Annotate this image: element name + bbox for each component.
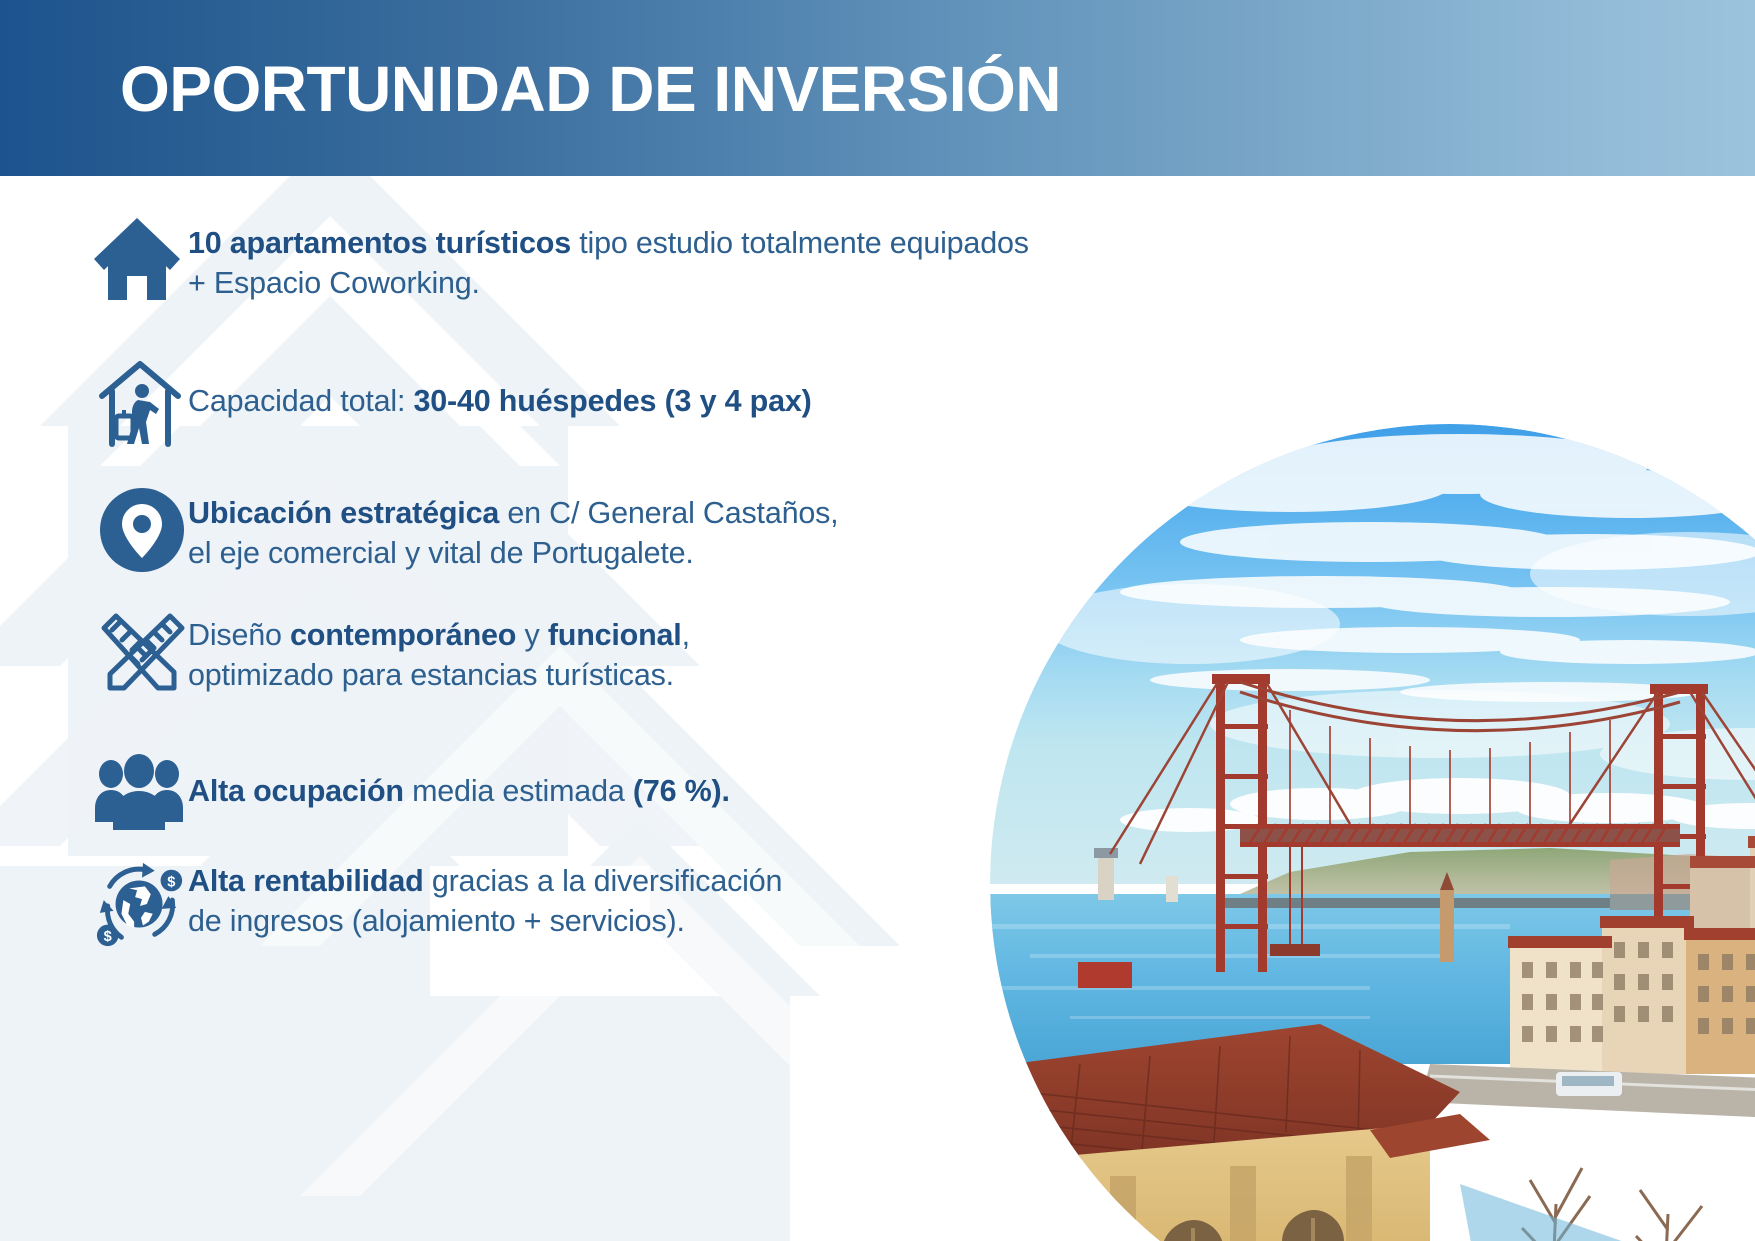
ruler-pencil-design-icon bbox=[92, 608, 188, 700]
guest-house-luggage-icon bbox=[92, 358, 188, 450]
bullet-6-line2: de ingresos (alojamiento + servicios). bbox=[188, 904, 685, 938]
page-title: OPORTUNIDAD DE INVERSIÓN bbox=[120, 52, 1061, 126]
bullet-4-mid: y bbox=[516, 618, 548, 652]
background-watermark bbox=[0, 176, 1100, 1241]
bullet-1-line2: + Espacio Coworking. bbox=[188, 266, 480, 300]
portugalete-vizcaya-bridge-photo bbox=[990, 424, 1755, 1241]
location-pin-icon bbox=[92, 486, 188, 574]
bullet-5-rest: media estimada bbox=[404, 774, 633, 808]
bullet-5-bold2: (76 %). bbox=[633, 774, 730, 808]
bullet-item-profitability: $ $ Alta rentabilidad gracias a la diver… bbox=[92, 856, 782, 952]
bullet-4-rest: Diseño bbox=[188, 618, 290, 652]
bullet-2-rest: Capacidad total: bbox=[188, 384, 414, 418]
bullet-6-bold: Alta rentabilidad bbox=[188, 864, 424, 898]
bullet-item-capacity: Capacidad total: 30-40 huéspedes (3 y 4 … bbox=[92, 358, 812, 450]
people-group-icon bbox=[92, 754, 188, 832]
bullet-item-occupancy: Alta ocupación media estimada (76 %). bbox=[92, 754, 730, 832]
bullet-3-line2: el eje comercial y vital de Portugalete. bbox=[188, 536, 694, 570]
bullet-text-profitability: Alta rentabilidad gracias a la diversifi… bbox=[188, 856, 782, 941]
bullet-3-bold: Ubicación estratégica bbox=[188, 496, 499, 530]
header-bar: OPORTUNIDAD DE INVERSIÓN bbox=[0, 0, 1755, 176]
bullet-2-bold: 30-40 huéspedes (3 y 4 pax) bbox=[414, 384, 812, 418]
bullet-4-bold2: funcional bbox=[548, 618, 682, 652]
svg-text:$: $ bbox=[167, 874, 175, 890]
bullet-4-line2: optimizado para estancias turísticas. bbox=[188, 658, 674, 692]
svg-text:$: $ bbox=[104, 929, 112, 945]
bullet-text-apartments: 10 apartamentos turísticos tipo estudio … bbox=[188, 214, 1029, 303]
house-icon bbox=[92, 214, 188, 302]
investment-opportunity-slide: OPORTUNIDAD DE INVERSIÓN 10 apartamentos… bbox=[0, 0, 1755, 1241]
bullet-text-design: Diseño contemporáneo y funcional, optimi… bbox=[188, 608, 690, 695]
bullet-item-location: Ubicación estratégica en C/ General Cast… bbox=[92, 486, 838, 574]
bullet-6-rest: gracias a la diversificación bbox=[424, 864, 783, 898]
bullet-text-occupancy: Alta ocupación media estimada (76 %). bbox=[188, 754, 730, 812]
money-cycle-globe-icon: $ $ bbox=[92, 856, 188, 952]
bullet-5-bold: Alta ocupación bbox=[188, 774, 404, 808]
bullet-text-location: Ubicación estratégica en C/ General Cast… bbox=[188, 486, 838, 573]
bullet-text-capacity: Capacidad total: 30-40 huéspedes (3 y 4 … bbox=[188, 358, 812, 422]
bullet-4-tail: , bbox=[682, 618, 690, 652]
bullet-3-rest: en C/ General Castaños, bbox=[499, 496, 838, 530]
bullet-1-bold: 10 apartamentos turísticos bbox=[188, 226, 571, 260]
bullet-4-bold: contemporáneo bbox=[290, 618, 516, 652]
bullet-1-rest: tipo estudio totalmente equipados bbox=[571, 226, 1029, 260]
bullet-item-apartments: 10 apartamentos turísticos tipo estudio … bbox=[92, 214, 1029, 303]
bullet-item-design: Diseño contemporáneo y funcional, optimi… bbox=[92, 608, 690, 700]
